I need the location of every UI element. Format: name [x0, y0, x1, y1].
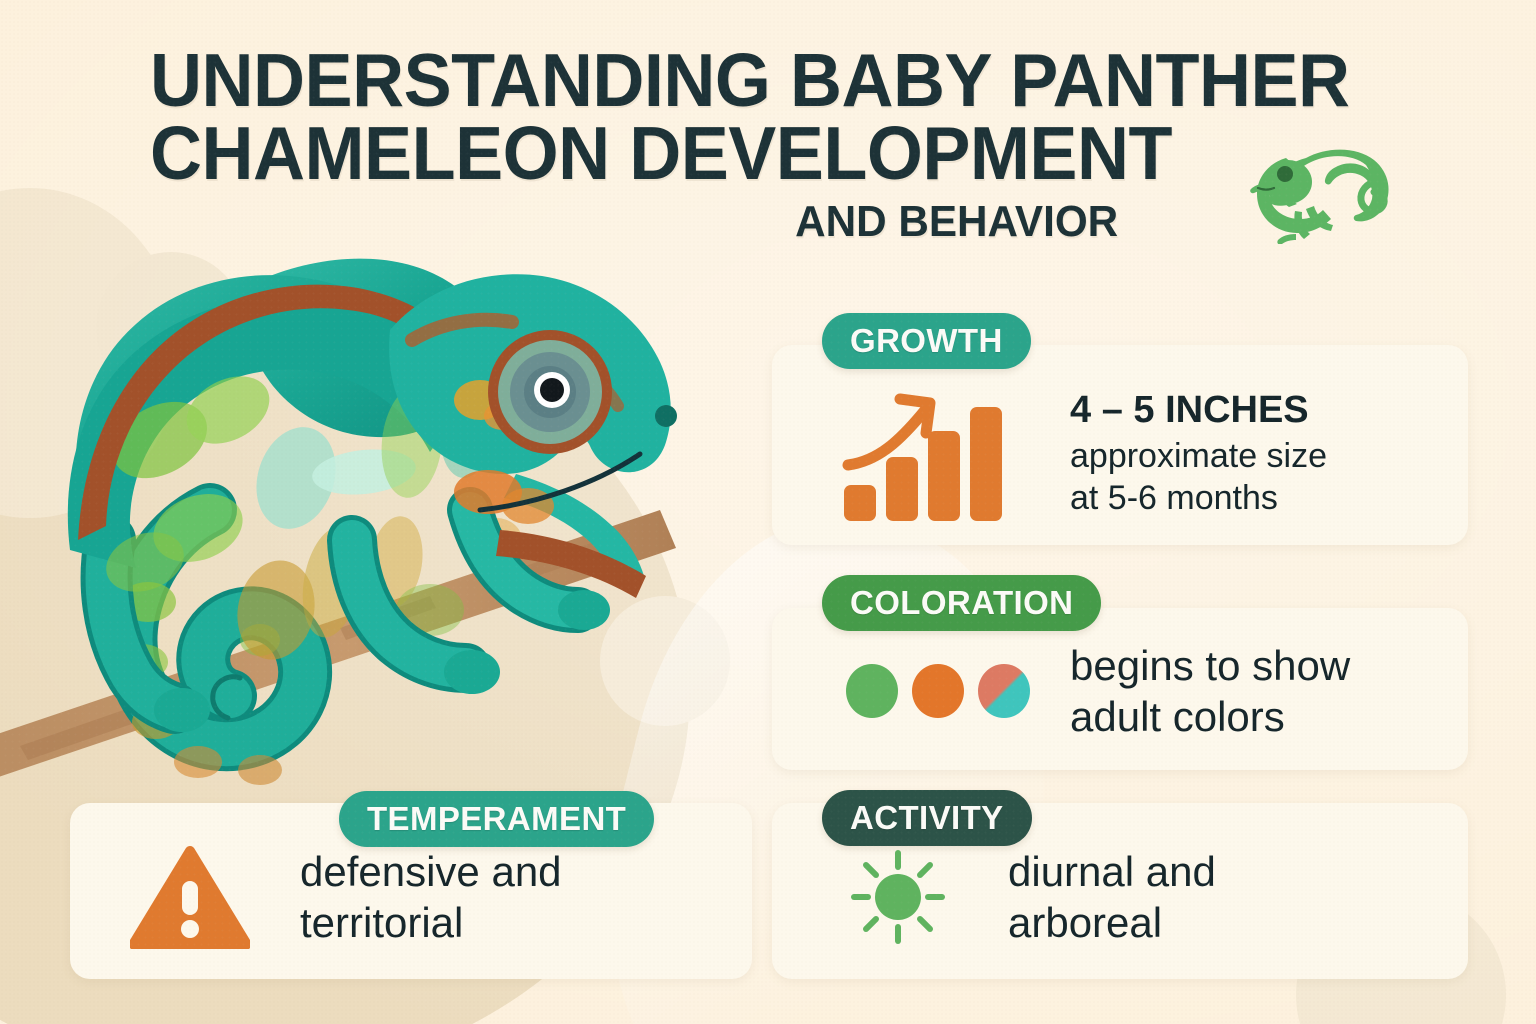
- infographic-poster: Understanding Baby Panther Chameleon Dev…: [0, 0, 1536, 1024]
- swatch-green: [846, 664, 898, 718]
- temperament-card-body: defensive and territorial: [130, 845, 730, 949]
- swatch-split: [978, 664, 1030, 718]
- coloration-line-1: begins to show: [1070, 640, 1350, 691]
- page-title: Understanding Baby Panther Chameleon Dev…: [150, 44, 1398, 190]
- temperament-line-1: defensive and: [300, 846, 562, 897]
- sun-icon: [838, 845, 958, 949]
- growth-card-body: 4 – 5 inches approximate size at 5-6 mon…: [838, 385, 1458, 525]
- swatch-orange: [912, 664, 964, 718]
- growth-line-2: at 5-6 months: [1070, 478, 1327, 519]
- coloration-line-2: adult colors: [1070, 691, 1350, 742]
- activity-badge: Activity: [822, 790, 1032, 846]
- temperament-line-2: territorial: [300, 897, 562, 948]
- coloration-card-body: begins to show adult colors: [838, 640, 1458, 742]
- activity-line-1: diurnal and: [1008, 846, 1216, 897]
- color-swatches-icon: [838, 664, 1038, 718]
- activity-card-body: diurnal and arboreal: [838, 845, 1458, 949]
- temperament-text: defensive and territorial: [300, 846, 562, 948]
- coloration-badge: Coloration: [822, 575, 1101, 631]
- activity-text: diurnal and arboreal: [1008, 846, 1216, 948]
- growth-headline: 4 – 5 inches: [1070, 391, 1327, 431]
- warning-triangle-icon: [130, 845, 250, 949]
- swatch-row: [846, 664, 1030, 718]
- page-title-line-1: Understanding Baby Panther: [150, 38, 1350, 122]
- page-title-line-2: Chameleon Development: [150, 111, 1172, 195]
- growth-text: 4 – 5 inches approximate size at 5-6 mon…: [1070, 391, 1327, 520]
- chameleon-icon: [1248, 134, 1420, 244]
- panther-chameleon-illustration: [0, 210, 720, 810]
- growth-line-1: approximate size: [1070, 436, 1327, 477]
- activity-line-2: arboreal: [1008, 897, 1216, 948]
- bar-chart-growth-icon: [838, 385, 1038, 525]
- temperament-badge: Temperament: [339, 791, 654, 847]
- growth-badge: Growth: [822, 313, 1031, 369]
- coloration-text: begins to show adult colors: [1070, 640, 1350, 742]
